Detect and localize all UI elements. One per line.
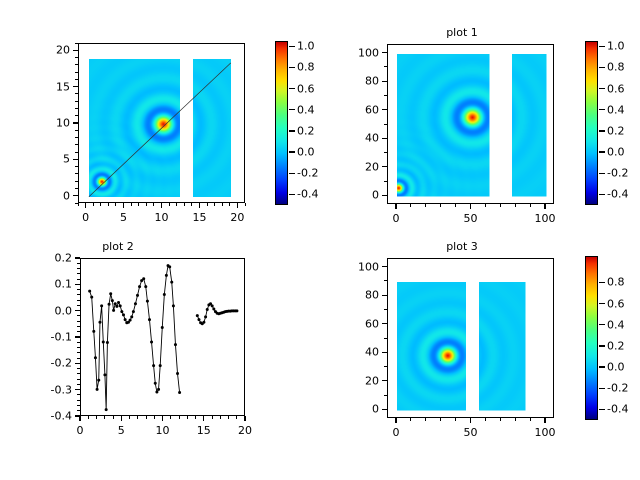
ytick-label: 20 <box>341 161 379 172</box>
tick-mark <box>75 159 78 160</box>
ytick-label: 20 <box>32 45 70 56</box>
tick-mark <box>77 284 80 285</box>
plot-frame-bottom-left[interactable] <box>80 258 245 416</box>
data-point-marker <box>144 285 147 288</box>
tick-mark <box>77 384 80 385</box>
data-point-marker <box>108 303 111 306</box>
tick-mark <box>187 416 188 419</box>
data-point-marker <box>134 302 137 305</box>
tick-mark <box>384 152 387 153</box>
xtick-label: 0 <box>77 425 84 436</box>
xtick-label: 0 <box>82 212 89 223</box>
data-point-marker <box>174 343 177 346</box>
tick-mark <box>245 416 246 419</box>
tick-mark <box>108 203 109 206</box>
colorbar-tick-mark <box>599 130 605 131</box>
panel-top-left: 0510152005101520 1.00.80.60.40.20.0-0.2-… <box>0 0 320 240</box>
tick-mark <box>455 204 456 207</box>
xtick-label: 15 <box>192 212 206 223</box>
tick-mark <box>123 203 124 206</box>
data-point-marker <box>172 304 175 307</box>
ytick-label: -0.3 <box>34 384 72 395</box>
tick-mark <box>470 418 471 421</box>
tick-mark <box>75 181 78 182</box>
tick-mark <box>77 410 80 411</box>
tick-mark <box>77 326 80 327</box>
colorbar-tick-mark <box>599 324 605 325</box>
tick-mark <box>384 124 387 125</box>
data-point-marker <box>155 390 158 393</box>
tick-mark <box>384 338 387 339</box>
colorbar-tick-mark <box>599 345 605 346</box>
colorbar-tick-mark <box>599 151 605 152</box>
data-point-marker <box>100 304 103 307</box>
heatmap-top-left <box>79 44 245 203</box>
tick-mark <box>530 418 531 421</box>
data-point-marker <box>88 290 91 293</box>
ytick-label: 100 <box>341 47 379 58</box>
colorbar-tick-label: -0.4 <box>607 403 628 416</box>
data-point-marker <box>138 285 141 288</box>
tick-mark <box>169 203 170 206</box>
ytick-label: 100 <box>341 261 379 272</box>
data-point-marker <box>206 308 209 311</box>
colorbar-tick-mark <box>599 88 605 89</box>
tick-mark <box>384 309 387 310</box>
tick-mark <box>222 203 223 206</box>
tick-mark <box>113 416 114 419</box>
colorbar-tick-label: 0.4 <box>607 318 625 331</box>
ytick-label: -0.4 <box>34 411 72 422</box>
tick-mark <box>395 418 396 421</box>
tick-mark <box>236 416 237 419</box>
colorbar-bottom-right <box>585 256 598 420</box>
data-point-marker <box>163 293 166 296</box>
data-point-marker <box>111 299 114 302</box>
ytick-label: 40 <box>341 347 379 358</box>
tick-mark <box>485 418 486 421</box>
data-point-marker <box>136 294 139 297</box>
panel-bottom-right-title: plot 3 <box>302 240 622 253</box>
tick-mark <box>77 300 80 301</box>
tick-mark <box>384 52 387 53</box>
xtick-label: 50 <box>464 213 478 224</box>
xtick-label: 20 <box>230 212 244 223</box>
tick-mark <box>237 203 238 206</box>
colorbar-tick-mark <box>599 409 605 410</box>
tick-mark <box>75 130 78 131</box>
tick-mark <box>77 263 80 264</box>
colorbar-tick-label: 1.0 <box>607 40 625 53</box>
colorbar-tick-label: 0.6 <box>607 297 625 310</box>
tick-mark <box>384 280 387 281</box>
colorbar-tick-label: 1.0 <box>297 40 315 53</box>
tick-mark <box>75 115 78 116</box>
tick-mark <box>138 203 139 206</box>
tick-mark <box>129 416 130 419</box>
tick-mark <box>162 416 163 419</box>
colorbar-tick-mark <box>289 88 295 89</box>
panel-bottom-left-title: plot 2 <box>0 240 278 253</box>
colorbar-tick-mark <box>599 173 605 174</box>
ytick-label: 0 <box>341 190 379 201</box>
tick-mark <box>77 331 80 332</box>
tick-mark <box>77 352 80 353</box>
tick-mark <box>77 315 80 316</box>
tick-mark <box>77 273 80 274</box>
tick-mark <box>440 418 441 421</box>
data-point-marker <box>115 305 118 308</box>
colorbar-tick-mark <box>289 151 295 152</box>
ytick-label: 20 <box>341 375 379 386</box>
tick-mark <box>115 203 116 206</box>
data-point-marker <box>92 330 95 333</box>
colorbar-tick-label: 0.8 <box>607 61 625 74</box>
ytick-label: -0.1 <box>34 332 72 343</box>
colorbar-tick-label: 0.0 <box>607 361 625 374</box>
tick-mark <box>77 389 80 390</box>
xtick-label: 0 <box>392 213 399 224</box>
tick-mark <box>75 50 78 51</box>
data-point-marker <box>90 296 93 299</box>
colorbar-tick-label: -0.4 <box>297 188 318 201</box>
colorbar-tick-label: 0.0 <box>607 146 625 159</box>
tick-mark <box>384 166 387 167</box>
tick-mark <box>75 101 78 102</box>
colorbar-tick-label: 0.4 <box>297 103 315 116</box>
tick-mark <box>77 368 80 369</box>
tick-mark <box>515 204 516 207</box>
data-point-marker <box>161 326 164 329</box>
colorbar-top-right <box>585 41 598 205</box>
tick-mark <box>77 258 80 259</box>
colorbar-tick-mark <box>599 46 605 47</box>
tick-mark <box>440 204 441 207</box>
tick-mark <box>199 203 200 206</box>
colorbar-tick-mark <box>599 194 605 195</box>
data-point-marker <box>212 308 215 311</box>
tick-mark <box>220 416 221 419</box>
data-point-marker <box>105 408 108 411</box>
data-point-marker <box>150 340 153 343</box>
tick-mark <box>77 294 80 295</box>
xtick-label: 15 <box>197 425 211 436</box>
tick-mark <box>191 203 192 206</box>
tick-mark <box>170 416 171 419</box>
ytick-label: 60 <box>341 104 379 115</box>
tick-mark <box>77 279 80 280</box>
tick-mark <box>545 204 546 207</box>
line-series-segment-a <box>90 266 180 410</box>
plot-frame-bottom-right[interactable] <box>387 258 554 418</box>
xtick-label: 0 <box>392 427 399 438</box>
tick-mark <box>75 108 78 109</box>
data-point-marker <box>146 300 149 303</box>
ytick-label: 10 <box>32 118 70 129</box>
tick-mark <box>75 123 78 124</box>
colorbar-tick-mark <box>289 109 295 110</box>
ytick-label: 0 <box>32 190 70 201</box>
data-point-marker <box>122 313 125 316</box>
xtick-label: 10 <box>156 425 170 436</box>
tick-mark <box>500 418 501 421</box>
ytick-label: 0.2 <box>34 253 72 264</box>
data-point-marker <box>103 373 106 376</box>
data-point-marker <box>132 310 135 313</box>
tick-mark <box>384 409 387 410</box>
ytick-label: 80 <box>341 290 379 301</box>
tick-mark <box>93 203 94 206</box>
data-point-marker <box>197 318 200 321</box>
tick-mark <box>229 203 230 206</box>
tick-mark <box>184 203 185 206</box>
tick-mark <box>384 352 387 353</box>
tick-mark <box>384 66 387 67</box>
tick-mark <box>77 379 80 380</box>
tick-mark <box>77 373 80 374</box>
heatmap-image <box>388 259 554 418</box>
tick-mark <box>545 418 546 421</box>
xtick-label: 5 <box>118 425 125 436</box>
data-point-marker <box>176 372 179 375</box>
tick-mark <box>77 337 80 338</box>
tick-mark <box>384 109 387 110</box>
plot-frame-top-left[interactable] <box>78 43 245 203</box>
tick-mark <box>161 203 162 206</box>
tick-mark <box>470 204 471 207</box>
tick-mark <box>384 138 387 139</box>
data-point-marker <box>170 281 173 284</box>
figure-canvas: 0510152005101520 1.00.80.60.40.20.0-0.2-… <box>0 0 640 480</box>
xtick-label: 100 <box>535 213 556 224</box>
ytick-label: 0.0 <box>34 305 72 316</box>
data-point-marker <box>97 379 100 382</box>
tick-mark <box>121 416 122 419</box>
ytick-label: 40 <box>341 133 379 144</box>
ytick-label: 5 <box>32 154 70 165</box>
data-point-marker <box>178 391 181 394</box>
data-point-marker <box>94 356 97 359</box>
tick-mark <box>75 86 78 87</box>
colorbar-tick-mark <box>599 282 605 283</box>
tick-mark <box>410 204 411 207</box>
colorbar-tick-mark <box>599 109 605 110</box>
colorbar-tick-label: 0.2 <box>607 124 625 137</box>
tick-mark <box>75 173 78 174</box>
tick-mark <box>384 181 387 182</box>
tick-mark <box>384 195 387 196</box>
tick-mark <box>104 416 105 419</box>
tick-mark <box>77 342 80 343</box>
tick-mark <box>77 394 80 395</box>
tick-mark <box>75 93 78 94</box>
tick-mark <box>384 295 387 296</box>
tick-mark <box>77 321 80 322</box>
colorbar-tick-label: 0.4 <box>607 103 625 116</box>
tick-mark <box>179 416 180 419</box>
tick-mark <box>384 95 387 96</box>
ytick-label: 0.1 <box>34 279 72 290</box>
data-point-marker <box>152 364 155 367</box>
data-point-marker <box>130 315 133 318</box>
panel-bottom-right: plot 3 020406080100050100 0.80.60.40.20.… <box>320 240 640 480</box>
tick-mark <box>77 400 80 401</box>
tick-mark <box>100 203 101 206</box>
data-point-marker <box>196 314 199 317</box>
data-point-marker <box>106 341 109 344</box>
tick-mark <box>75 137 78 138</box>
colorbar-top-left <box>275 41 288 205</box>
tick-mark <box>85 203 86 206</box>
data-point-marker <box>148 318 151 321</box>
data-point-marker <box>211 304 214 307</box>
tick-mark <box>88 416 89 419</box>
tick-mark <box>137 416 138 419</box>
panel-top-right: plot 1 020406080100050100 1.00.80.60.40.… <box>320 0 640 240</box>
tick-mark <box>146 203 147 206</box>
xtick-label: 20 <box>238 425 252 436</box>
data-point-marker <box>168 265 171 268</box>
data-point-marker <box>119 304 122 307</box>
tick-mark <box>455 418 456 421</box>
tick-mark <box>384 366 387 367</box>
data-point-marker <box>202 321 205 324</box>
data-point-marker <box>204 315 207 318</box>
tick-mark <box>77 268 80 269</box>
heatmap-image <box>388 45 554 204</box>
tick-mark <box>153 203 154 206</box>
tick-mark <box>207 203 208 206</box>
panel-bottom-left: plot 2 0.20.10.0-0.1-0.2-0.3-0.405101520 <box>0 240 320 480</box>
tick-mark <box>515 418 516 421</box>
tick-mark <box>75 43 78 44</box>
colorbar-tick-label: 0.8 <box>297 61 315 74</box>
heatmap-image <box>79 44 245 203</box>
tick-mark <box>77 289 80 290</box>
panel-top-right-title: plot 1 <box>302 26 622 39</box>
colorbar-tick-label: -0.2 <box>297 167 318 180</box>
colorbar-tick-label: 0.2 <box>607 339 625 352</box>
tick-mark <box>195 416 196 419</box>
xtick-label: 50 <box>464 427 478 438</box>
colorbar-tick-mark <box>289 130 295 131</box>
xtick-label: 10 <box>155 212 169 223</box>
data-point-marker <box>129 319 132 322</box>
tick-mark <box>77 416 80 417</box>
tick-mark <box>75 188 78 189</box>
xtick-label: 100 <box>535 427 556 438</box>
colorbar-tick-mark <box>599 303 605 304</box>
colorbar-tick-label: 0.6 <box>297 82 315 95</box>
colorbar-tick-mark <box>289 67 295 68</box>
ytick-label: 80 <box>341 76 379 87</box>
data-point-marker <box>102 340 105 343</box>
colorbar-tick-mark <box>289 173 295 174</box>
tick-mark <box>384 323 387 324</box>
tick-mark <box>77 305 80 306</box>
ytick-label: 60 <box>341 318 379 329</box>
colorbar-tick-label: -0.2 <box>607 382 628 395</box>
tick-mark <box>75 144 78 145</box>
colorbar-tick-mark <box>599 366 605 367</box>
tick-mark <box>154 416 155 419</box>
ytick-label: 0 <box>341 404 379 415</box>
line-chart-bottom-left <box>81 259 245 416</box>
data-point-marker <box>114 302 117 305</box>
tick-mark <box>212 416 213 419</box>
heatmap-top-right <box>388 45 554 204</box>
data-point-marker <box>154 382 157 385</box>
colorbar-tick-label: 0.8 <box>607 276 625 289</box>
tick-mark <box>425 418 426 421</box>
tick-mark <box>75 166 78 167</box>
tick-mark <box>131 203 132 206</box>
tick-mark <box>75 79 78 80</box>
colorbar-tick-mark <box>599 388 605 389</box>
tick-mark <box>425 204 426 207</box>
data-point-marker <box>124 318 127 321</box>
tick-mark <box>485 204 486 207</box>
tick-mark <box>75 64 78 65</box>
colorbar-tick-mark <box>289 194 295 195</box>
tick-mark <box>228 416 229 419</box>
data-point-marker <box>112 309 115 312</box>
tick-mark <box>176 203 177 206</box>
tick-mark <box>384 266 387 267</box>
colorbar-tick-mark <box>599 67 605 68</box>
tick-mark <box>77 310 80 311</box>
data-point-marker <box>98 321 101 324</box>
data-point-marker <box>159 364 162 367</box>
tick-mark <box>384 380 387 381</box>
colorbar-tick-label: -0.2 <box>607 167 628 180</box>
colorbar-tick-label: -0.4 <box>607 188 628 201</box>
tick-mark <box>75 152 78 153</box>
data-point-marker <box>117 301 120 304</box>
tick-mark <box>410 418 411 421</box>
heatmap-bottom-right <box>388 259 554 418</box>
tick-mark <box>75 72 78 73</box>
tick-mark <box>530 204 531 207</box>
tick-mark <box>75 195 78 196</box>
tick-mark <box>146 416 147 419</box>
xtick-label: 5 <box>120 212 127 223</box>
plot-frame-top-right[interactable] <box>387 44 554 204</box>
data-point-marker <box>157 388 160 391</box>
data-point-marker <box>142 277 145 280</box>
data-point-marker <box>235 309 238 312</box>
colorbar-tick-label: 0.0 <box>297 146 315 159</box>
tick-mark <box>203 416 204 419</box>
tick-mark <box>384 395 387 396</box>
tick-mark <box>384 81 387 82</box>
tick-mark <box>96 416 97 419</box>
tick-mark <box>75 203 78 204</box>
tick-mark <box>77 347 80 348</box>
tick-mark <box>77 405 80 406</box>
tick-mark <box>500 204 501 207</box>
tick-mark <box>75 57 78 58</box>
data-point-marker <box>96 388 99 391</box>
tick-mark <box>245 203 246 206</box>
colorbar-tick-label: 0.2 <box>297 124 315 137</box>
tick-mark <box>77 363 80 364</box>
colorbar-tick-mark <box>289 46 295 47</box>
colorbar-tick-label: 0.6 <box>607 82 625 95</box>
tick-mark <box>214 203 215 206</box>
ytick-label: 15 <box>32 81 70 92</box>
ytick-label: -0.2 <box>34 358 72 369</box>
